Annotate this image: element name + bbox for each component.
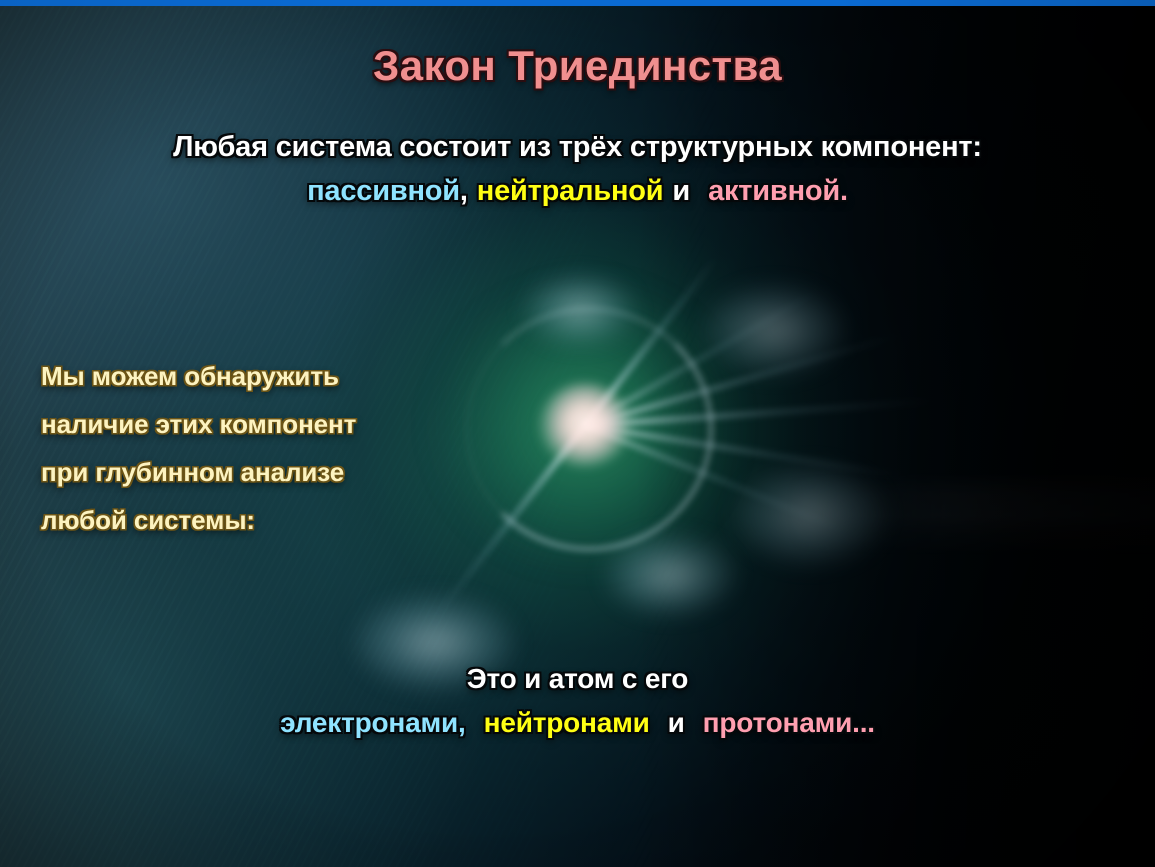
top-accent-strip [0, 0, 1155, 6]
body-line-3: при глубинном анализе [41, 448, 356, 496]
burst-ring-arc [465, 307, 713, 551]
burst-wisp-bottom [605, 535, 735, 615]
burst-wisp-lower-right [735, 465, 885, 565]
closing-line-1-text: Это и атом с его [467, 663, 688, 694]
lede-line-2: пассивной,нейтральнойиактивной. [0, 175, 1155, 208]
lede-line-1: Любая система состоит из трёх структурны… [0, 131, 1155, 164]
closing-line-1: Это и атом с его [0, 663, 1155, 695]
burst-spike-lower-left [434, 423, 587, 616]
burst-wisp-top [525, 275, 635, 345]
particle-electrons-label: электронами, [280, 707, 465, 738]
component-passive-label: пассивной [307, 175, 460, 207]
particle-neutrons-label: нейтронами [484, 707, 650, 738]
lede-line-1-text: Любая система состоит из трёх структурны… [173, 131, 982, 163]
closing-conjunction: и [668, 707, 685, 738]
closing-line-2: электронами,нейтронамиипротонами... [0, 707, 1155, 739]
lede-comma: , [460, 175, 468, 207]
burst-wisp-upper-right [705, 285, 845, 375]
burst-spike-right-mid [585, 397, 935, 428]
body-line-4: любой системы: [41, 496, 356, 544]
slide-title: Закон Триединства [0, 42, 1155, 90]
presentation-slide: Закон Триединства Любая система состоит … [0, 0, 1155, 867]
particle-protons-label: протонами... [703, 707, 875, 738]
burst-core [539, 383, 631, 467]
body-line-1: Мы можем обнаружить [41, 352, 356, 400]
burst-spike-right-up2 [583, 287, 820, 428]
burst-outer-glow [435, 285, 735, 565]
component-active-label: активной. [708, 175, 848, 207]
body-paragraph: Мы можем обнаружить наличие этих компоне… [41, 352, 356, 544]
body-line-2: наличие этих компонент [41, 400, 356, 448]
burst-spike-right-low2 [584, 422, 846, 533]
burst-spike-right-lower [584, 422, 911, 481]
burst-spike-upper-left [582, 253, 720, 427]
component-neutral-label: нейтральной [477, 175, 664, 207]
burst-spike-right-upper [584, 331, 903, 429]
lede-conjunction: и [672, 175, 690, 207]
